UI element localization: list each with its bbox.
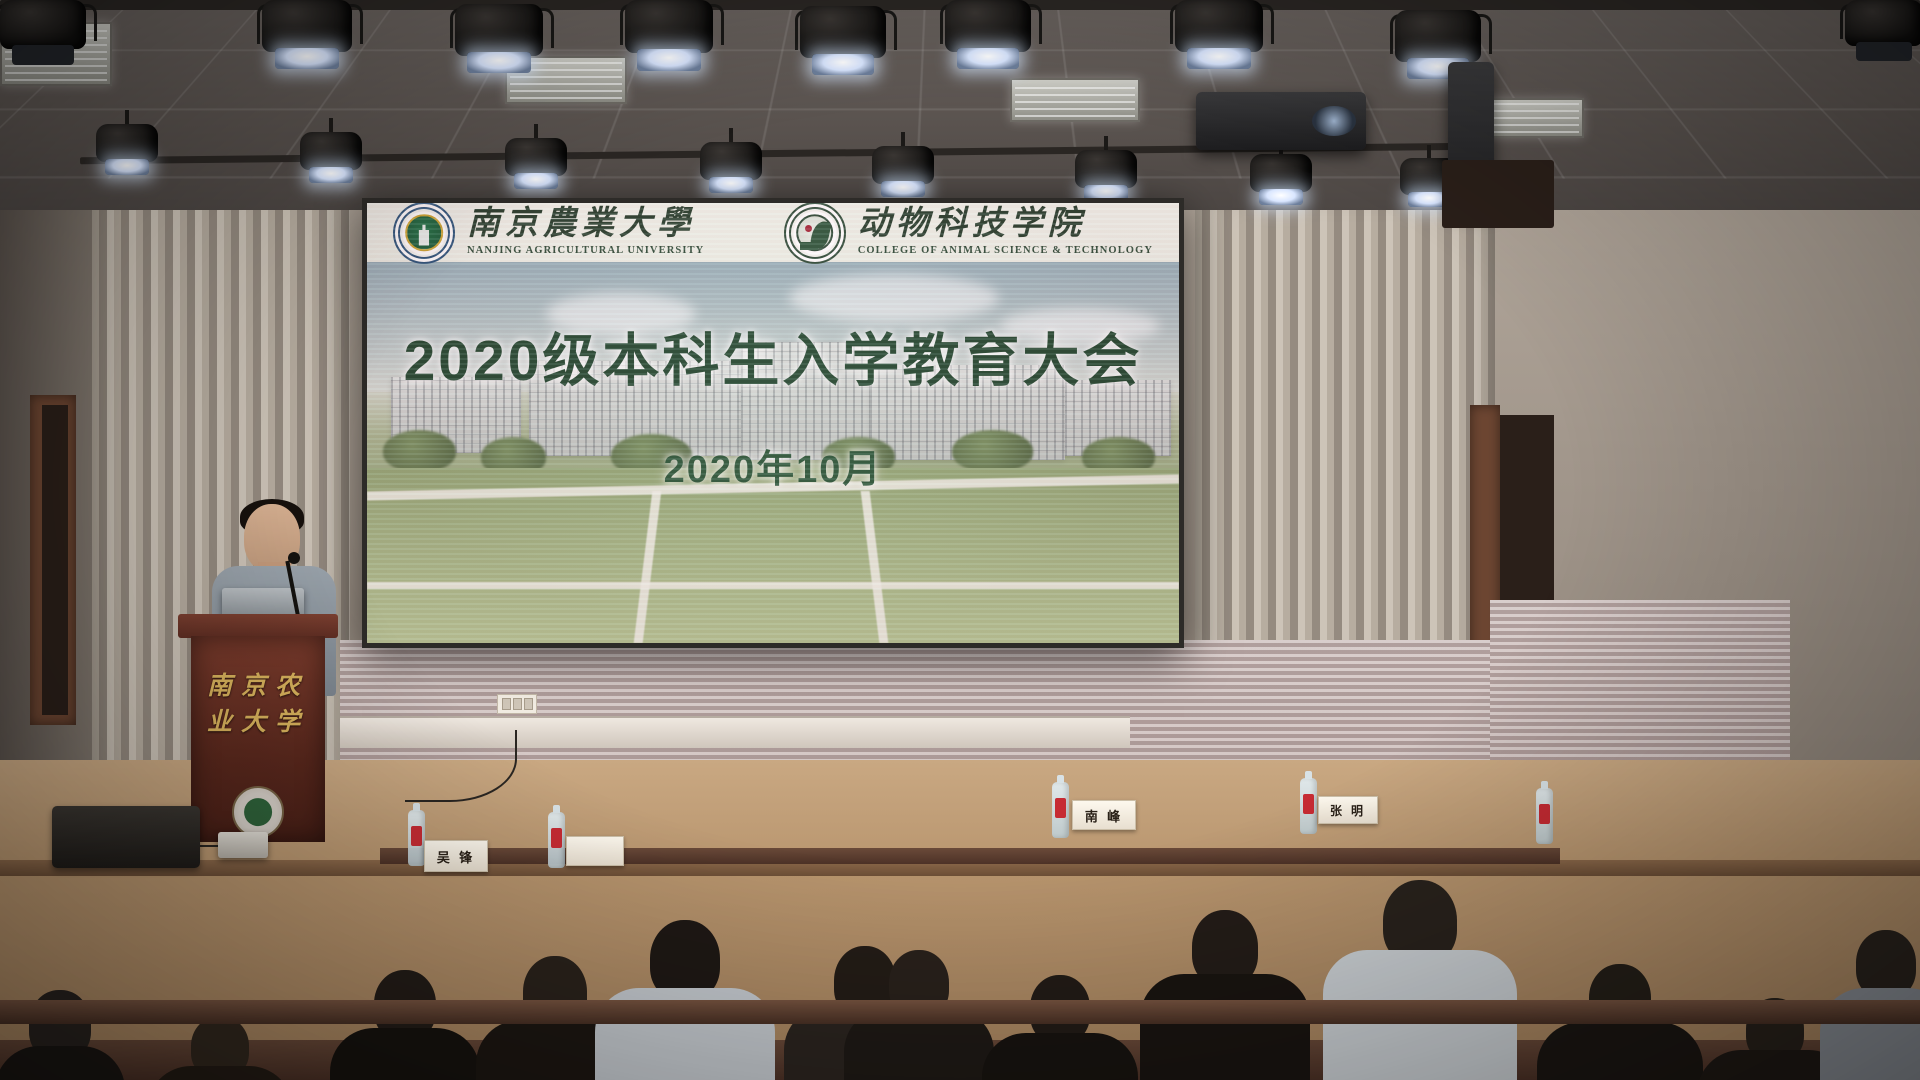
podium: 南京农业大学 <box>178 614 338 842</box>
njau-crest-icon <box>393 203 455 264</box>
audience-member <box>1330 880 1510 1080</box>
stage-light-icon <box>300 132 362 184</box>
university-name-cn: 南京農業大學 <box>467 208 704 241</box>
av-equipment-box <box>218 832 268 858</box>
projector-icon <box>1196 92 1366 150</box>
water-bottle-icon <box>548 812 565 868</box>
water-bottle-icon <box>1536 788 1553 844</box>
name-placard-blank <box>566 836 624 866</box>
projection-screen: 南京農業大學 NANJING AGRICULTURAL UNIVERSITY 动… <box>362 198 1184 648</box>
stage-light-icon <box>96 124 158 176</box>
stage-light-icon <box>700 142 762 194</box>
water-bottle-icon <box>1300 778 1317 834</box>
university-branding: 南京農業大學 NANJING AGRICULTURAL UNIVERSITY <box>393 203 704 264</box>
podium-top <box>178 614 338 638</box>
microphone-head-icon <box>288 552 300 564</box>
doorway-left <box>42 405 68 715</box>
front-table <box>0 1000 1920 1024</box>
ceiling-light-panel-3 <box>1010 78 1140 122</box>
stage-light-icon <box>945 0 1031 70</box>
power-outlet-left[interactable] <box>497 694 537 714</box>
njau-crest-icon <box>232 786 284 838</box>
stage-light-icon <box>262 0 352 70</box>
slide-date: 2020年10月 <box>367 438 1179 493</box>
stage-light-icon <box>872 146 934 198</box>
college-branding: 动物科技学院 COLLEGE OF ANIMAL SCIENCE & TECHN… <box>784 203 1153 264</box>
animal-science-crest-icon <box>784 203 846 264</box>
stage-light-icon <box>455 4 543 74</box>
placard-name: 南 峰 <box>1085 806 1123 825</box>
college-name-en: COLLEGE OF ANIMAL SCIENCE & TECHNOLOGY <box>858 246 1153 257</box>
name-placard: 吴 锋 <box>424 840 488 872</box>
name-placard: 南 峰 <box>1072 800 1136 830</box>
slide-header: 南京農業大學 NANJING AGRICULTURAL UNIVERSITY 动… <box>367 203 1179 262</box>
av-equipment-case <box>52 806 200 868</box>
audience-member <box>820 890 980 1080</box>
college-name-cn: 动物科技学院 <box>858 208 1153 241</box>
podium-body: 南京农业大学 <box>191 636 325 842</box>
stage-light-icon <box>625 0 713 72</box>
water-bottle-icon <box>408 810 425 866</box>
audience-member <box>985 975 1135 1080</box>
audience-member <box>330 970 480 1080</box>
presentation-slide: 南京農業大學 NANJING AGRICULTURAL UNIVERSITY 动… <box>367 203 1179 643</box>
water-bottle-icon <box>1052 782 1069 838</box>
slide-title: 2020级本科生入学教育大会 <box>367 315 1179 397</box>
stage-light-icon <box>1845 0 1920 62</box>
stage-light-icon <box>1250 154 1312 206</box>
ceiling-recess-right <box>1442 160 1554 228</box>
photograph-scene: 南京農業大學 NANJING AGRICULTURAL UNIVERSITY 动… <box>0 0 1920 1080</box>
university-name-en: NANJING AGRICULTURAL UNIVERSITY <box>467 246 704 257</box>
name-placard: 张 明 <box>1318 796 1378 824</box>
podium-label: 南京农业大学 <box>191 666 325 738</box>
stage-light-icon <box>800 6 886 76</box>
placard-name: 张 明 <box>1330 802 1366 819</box>
audience-member <box>1145 910 1305 1080</box>
placard-name: 吴 锋 <box>437 847 475 866</box>
stage-light-icon <box>505 138 567 190</box>
stage-light-icon <box>0 0 86 66</box>
stage-light-icon <box>1175 0 1263 70</box>
photo-path <box>367 582 1179 589</box>
stage-light-icon <box>1075 150 1137 202</box>
